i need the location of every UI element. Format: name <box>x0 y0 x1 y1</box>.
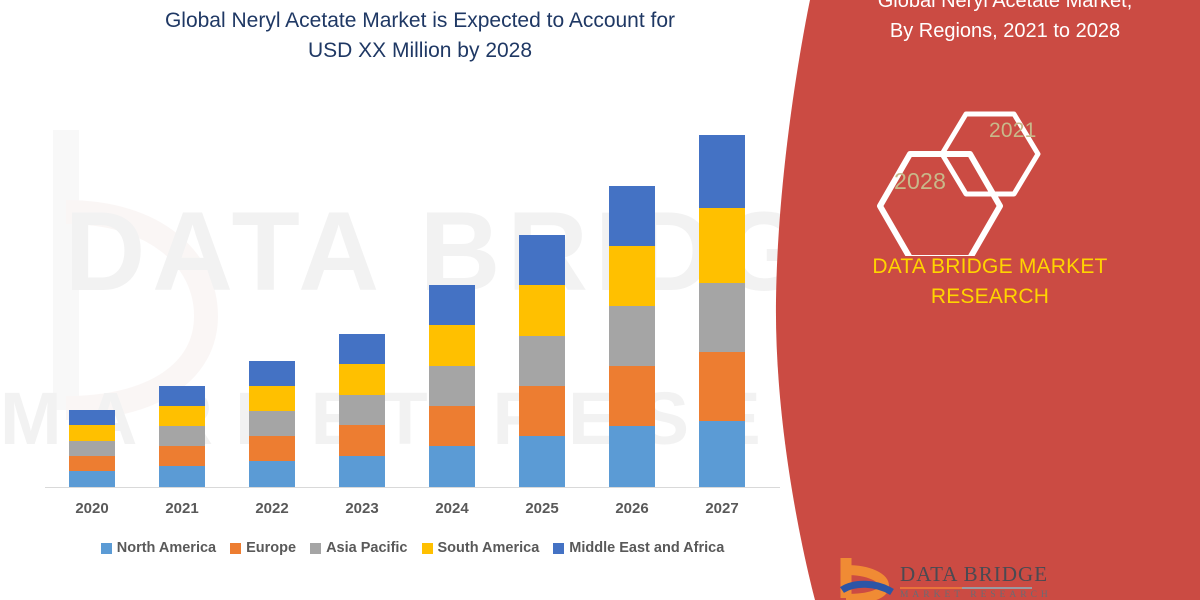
bar-segment[interactable] <box>339 456 385 487</box>
x-axis-tick-label: 2025 <box>497 500 587 517</box>
bar-segment[interactable] <box>519 386 565 436</box>
bar-segment[interactable] <box>699 283 745 352</box>
bar-segment[interactable] <box>339 334 385 364</box>
bar-segment[interactable] <box>609 246 655 306</box>
stacked-bar[interactable] <box>69 410 115 487</box>
bar-segment[interactable] <box>699 352 745 421</box>
legend-swatch <box>101 543 112 554</box>
bar-segment[interactable] <box>609 426 655 487</box>
logo-wordmark: DATA BRIDGE <box>900 562 1048 587</box>
bar-segment[interactable] <box>699 421 745 487</box>
legend-item[interactable]: Asia Pacific <box>310 540 407 556</box>
bar-segment[interactable] <box>69 471 115 487</box>
legend-label: Europe <box>246 540 296 556</box>
x-axis-tick-label: 2024 <box>407 500 497 517</box>
stacked-bar[interactable] <box>249 361 295 487</box>
panel-brand-line-1: DATA BRIDGE MARKET <box>830 252 1150 282</box>
x-axis-tick-label: 2021 <box>137 500 227 517</box>
stacked-bar[interactable] <box>699 135 745 487</box>
hexagon-label-2021: 2021 <box>989 119 1037 143</box>
panel-title-line-1: Global Neryl Acetate Market, <box>820 0 1190 16</box>
bar-segment[interactable] <box>519 285 565 336</box>
stacked-bar[interactable] <box>159 386 205 487</box>
legend-label: Middle East and Africa <box>569 540 724 556</box>
red-panel-content: Global Neryl Acetate Market, By Regions,… <box>770 0 1200 600</box>
bar-segment[interactable] <box>249 411 295 436</box>
bar-segment[interactable] <box>429 285 475 325</box>
bar-segment[interactable] <box>519 336 565 386</box>
legend-label: South America <box>438 540 540 556</box>
hexagon-group: 2028 2021 <box>874 96 1114 256</box>
bar-segment[interactable] <box>519 436 565 487</box>
stacked-bar[interactable] <box>609 186 655 487</box>
panel-title: Global Neryl Acetate Market, By Regions,… <box>820 0 1190 46</box>
legend-swatch <box>422 543 433 554</box>
legend-item[interactable]: North America <box>101 540 216 556</box>
x-axis-tick-label: 2027 <box>677 500 767 517</box>
bar-segment[interactable] <box>69 410 115 425</box>
bar-segment[interactable] <box>609 366 655 426</box>
legend-item[interactable]: Europe <box>230 540 296 556</box>
x-axis-tick-label: 2020 <box>47 500 137 517</box>
legend-label: North America <box>117 540 216 556</box>
logo-divider <box>900 587 1032 589</box>
bar-segment[interactable] <box>69 425 115 441</box>
bar-segment[interactable] <box>69 456 115 471</box>
bar-segment[interactable] <box>159 426 205 446</box>
bar-segment[interactable] <box>699 135 745 208</box>
panel-title-line-2: By Regions, 2021 to 2028 <box>820 16 1190 46</box>
bar-segment[interactable] <box>249 436 295 461</box>
panel-brand-text: DATA BRIDGE MARKET RESEARCH <box>830 252 1150 312</box>
bar-segment[interactable] <box>609 306 655 366</box>
bar-segment[interactable] <box>429 366 475 406</box>
bar-segment[interactable] <box>159 386 205 406</box>
databridge-logo-icon <box>840 556 896 600</box>
infographic-canvas: DATA BRIDGE MARKET RESEARCH Global Neryl… <box>0 0 1200 600</box>
bar-segment[interactable] <box>249 361 295 386</box>
bar-segment[interactable] <box>429 446 475 487</box>
bar-segment[interactable] <box>249 461 295 487</box>
bar-segment[interactable] <box>429 406 475 446</box>
stacked-bar[interactable] <box>519 235 565 487</box>
bar-segment[interactable] <box>699 208 745 283</box>
x-axis-line <box>45 487 780 488</box>
bar-segment[interactable] <box>159 406 205 426</box>
x-axis-tick-label: 2022 <box>227 500 317 517</box>
legend-swatch <box>553 543 564 554</box>
databridge-logo: DATA BRIDGE MARKET RESEARCH <box>840 556 1170 600</box>
bar-segment[interactable] <box>519 235 565 285</box>
bar-segment[interactable] <box>339 425 385 456</box>
panel-brand-line-2: RESEARCH <box>830 282 1150 312</box>
bar-segment[interactable] <box>429 325 475 366</box>
bar-segment[interactable] <box>159 446 205 466</box>
logo-tagline: MARKET RESEARCH <box>900 590 1052 600</box>
legend-swatch <box>230 543 241 554</box>
chart-plot-area: 20202021202220232024202520262027 <box>0 0 800 600</box>
legend-item[interactable]: Middle East and Africa <box>553 540 724 556</box>
bar-segment[interactable] <box>339 364 385 395</box>
bar-segment[interactable] <box>69 441 115 456</box>
x-axis-tick-label: 2026 <box>587 500 677 517</box>
legend-item[interactable]: South America <box>422 540 540 556</box>
bar-segment[interactable] <box>339 395 385 425</box>
legend-label: Asia Pacific <box>326 540 407 556</box>
bar-segment[interactable] <box>249 386 295 411</box>
bar-segment[interactable] <box>159 466 205 487</box>
stacked-bar[interactable] <box>339 334 385 487</box>
stacked-bar[interactable] <box>429 285 475 487</box>
chart-legend: North AmericaEuropeAsia PacificSouth Ame… <box>45 540 780 556</box>
bar-segment[interactable] <box>609 186 655 246</box>
x-axis-tick-label: 2023 <box>317 500 407 517</box>
hexagon-label-2028: 2028 <box>894 168 946 195</box>
legend-swatch <box>310 543 321 554</box>
